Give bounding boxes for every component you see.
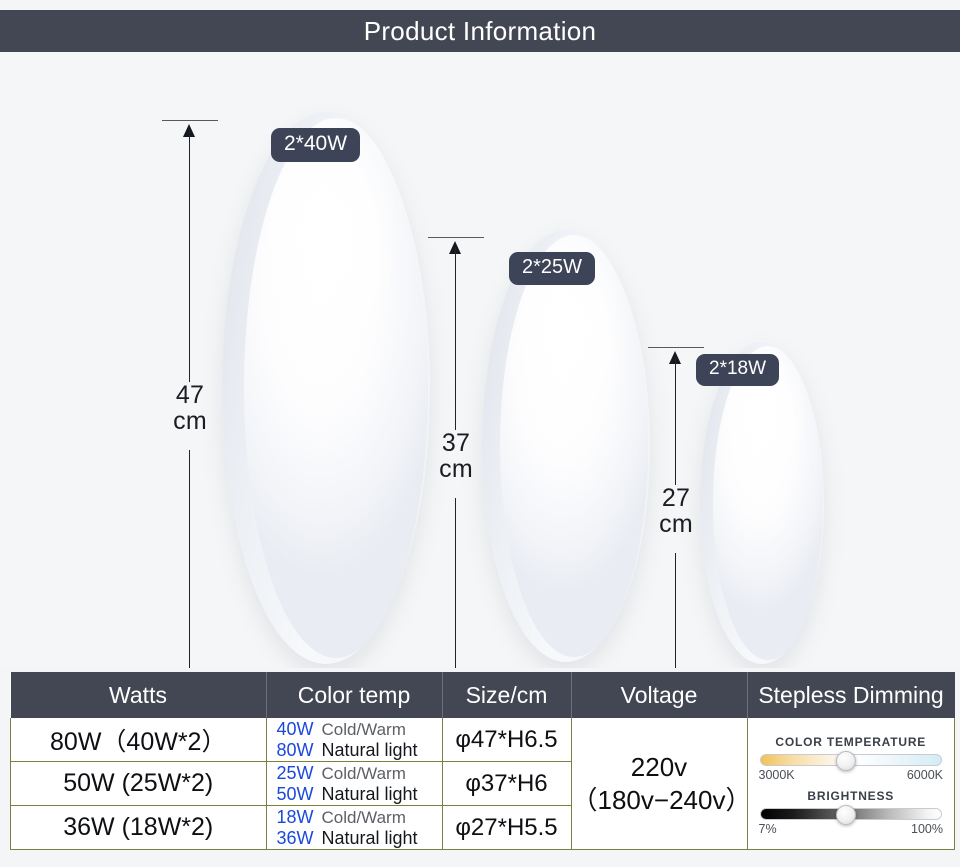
wattage-badge-25w: 2*25W xyxy=(509,252,595,285)
cell-size-row2: φ37*H6 xyxy=(442,762,571,806)
dimension-line-27cm: 27 cm xyxy=(648,347,704,668)
dimming-panel: COLOR TEMPERATURE 3000K 6000K BRIGHTNESS xyxy=(748,728,955,840)
dimension-cap-top xyxy=(648,347,704,348)
brightness-min-label: 7% xyxy=(759,822,777,836)
cell-size-row1: φ47*H6.5 xyxy=(442,718,571,762)
color-temperature-slider[interactable] xyxy=(760,753,943,767)
color-temp-min-label: 3000K xyxy=(759,768,795,782)
page-title: Product Information xyxy=(364,16,597,47)
dimension-line-47cm: 47 cm xyxy=(162,120,218,668)
product-illustration-area: 2*40W 2*25W 2*18W 47 cm 37 cm 27 xyxy=(0,52,960,668)
color-temp-max-label: 6000K xyxy=(907,768,943,782)
cell-color-temp-row1: 40W Cold/Warm 80W Natural light xyxy=(266,718,442,762)
cell-color-temp-row3: 18W Cold/Warm 36W Natural light xyxy=(266,806,442,850)
dimension-unit: cm xyxy=(156,408,224,434)
page-header-banner: Product Information xyxy=(0,10,960,52)
dimension-value: 27 xyxy=(642,485,710,511)
lamp-image-18w xyxy=(700,342,824,664)
wattage-badge-18w: 2*18W xyxy=(696,354,779,386)
color-temp-watt-cold: 40W xyxy=(277,719,319,740)
dimension-label-27cm: 27 cm xyxy=(642,485,710,538)
dimension-shaft-upper xyxy=(189,130,190,382)
cell-size-row3: φ27*H5.5 xyxy=(442,806,571,850)
dimension-unit: cm xyxy=(642,511,710,537)
color-temp-watt-cold: 25W xyxy=(277,763,319,784)
color-temp-watt-natural: 36W xyxy=(277,828,319,849)
color-temperature-label: COLOR TEMPERATURE xyxy=(758,735,945,749)
cell-watts-row1: 80W（40W*2） xyxy=(11,718,267,762)
brightness-thumb[interactable] xyxy=(836,805,856,825)
lamp-face xyxy=(500,235,648,657)
dimension-line-37cm: 37 cm xyxy=(428,237,484,668)
specification-table: Watts Color temp Size/cm Voltage Steples… xyxy=(10,672,955,850)
voltage-main: 220v xyxy=(572,751,747,784)
cell-watts-row3: 36W (18W*2) xyxy=(11,806,267,850)
dimension-value: 47 xyxy=(156,382,224,408)
color-temp-line-cold: 40W Cold/Warm xyxy=(267,719,442,740)
brightness-slider[interactable] xyxy=(760,807,943,821)
color-temp-line-cold: 25W Cold/Warm xyxy=(267,763,442,784)
color-temp-line-cold: 18W Cold/Warm xyxy=(267,807,442,828)
lamp-image-40w xyxy=(222,112,430,664)
color-temp-label-natural: Natural light xyxy=(322,828,418,849)
column-header-stepless-dimming: Stepless Dimming xyxy=(747,672,955,718)
color-temp-label-natural: Natural light xyxy=(322,784,418,805)
voltage-range: （180v−240v） xyxy=(572,784,747,817)
color-temp-label-cold: Cold/Warm xyxy=(322,764,406,784)
column-header-size: Size/cm xyxy=(442,672,571,718)
cell-color-temp-row2: 25W Cold/Warm 50W Natural light xyxy=(266,762,442,806)
table-header-row: Watts Color temp Size/cm Voltage Steples… xyxy=(11,672,955,718)
color-temp-watt-cold: 18W xyxy=(277,807,319,828)
lamp-image-25w xyxy=(482,230,650,662)
column-header-voltage: Voltage xyxy=(571,672,747,718)
wattage-badge-40w: 2*40W xyxy=(271,128,360,162)
dimension-shaft-lower xyxy=(675,553,676,668)
color-temp-label-cold: Cold/Warm xyxy=(322,720,406,740)
dimension-shaft-upper xyxy=(455,247,456,430)
dimension-cap-top xyxy=(162,120,218,121)
brightness-max-label: 100% xyxy=(911,822,943,836)
column-header-watts: Watts xyxy=(11,672,267,718)
color-temp-line-natural: 80W Natural light xyxy=(267,740,442,761)
color-temp-label-cold: Cold/Warm xyxy=(322,808,406,828)
color-temp-line-natural: 36W Natural light xyxy=(267,828,442,849)
color-temp-label-natural: Natural light xyxy=(322,740,418,761)
dimension-unit: cm xyxy=(422,456,490,482)
color-temperature-thumb[interactable] xyxy=(836,751,856,771)
lamp-face xyxy=(713,346,823,660)
color-temp-watt-natural: 80W xyxy=(277,740,319,761)
cell-voltage: 220v （180v−240v） xyxy=(571,718,747,850)
dimension-cap-top xyxy=(428,237,484,238)
cell-watts-row2: 50W (25W*2) xyxy=(11,762,267,806)
table-row: 80W（40W*2） 40W Cold/Warm 80W Natural lig… xyxy=(11,718,955,762)
color-temp-line-natural: 50W Natural light xyxy=(267,784,442,805)
dimension-shaft-lower xyxy=(455,498,456,668)
brightness-label: BRIGHTNESS xyxy=(758,789,945,803)
column-header-color-temp: Color temp xyxy=(266,672,442,718)
dimension-label-37cm: 37 cm xyxy=(422,430,490,483)
dimension-shaft-lower xyxy=(189,450,190,668)
cell-stepless-dimming: COLOR TEMPERATURE 3000K 6000K BRIGHTNESS xyxy=(747,718,955,850)
dimension-shaft-upper xyxy=(675,357,676,485)
dimension-value: 37 xyxy=(422,430,490,456)
lamp-face xyxy=(244,118,428,658)
color-temp-watt-natural: 50W xyxy=(277,784,319,805)
dimension-label-47cm: 47 cm xyxy=(156,382,224,435)
